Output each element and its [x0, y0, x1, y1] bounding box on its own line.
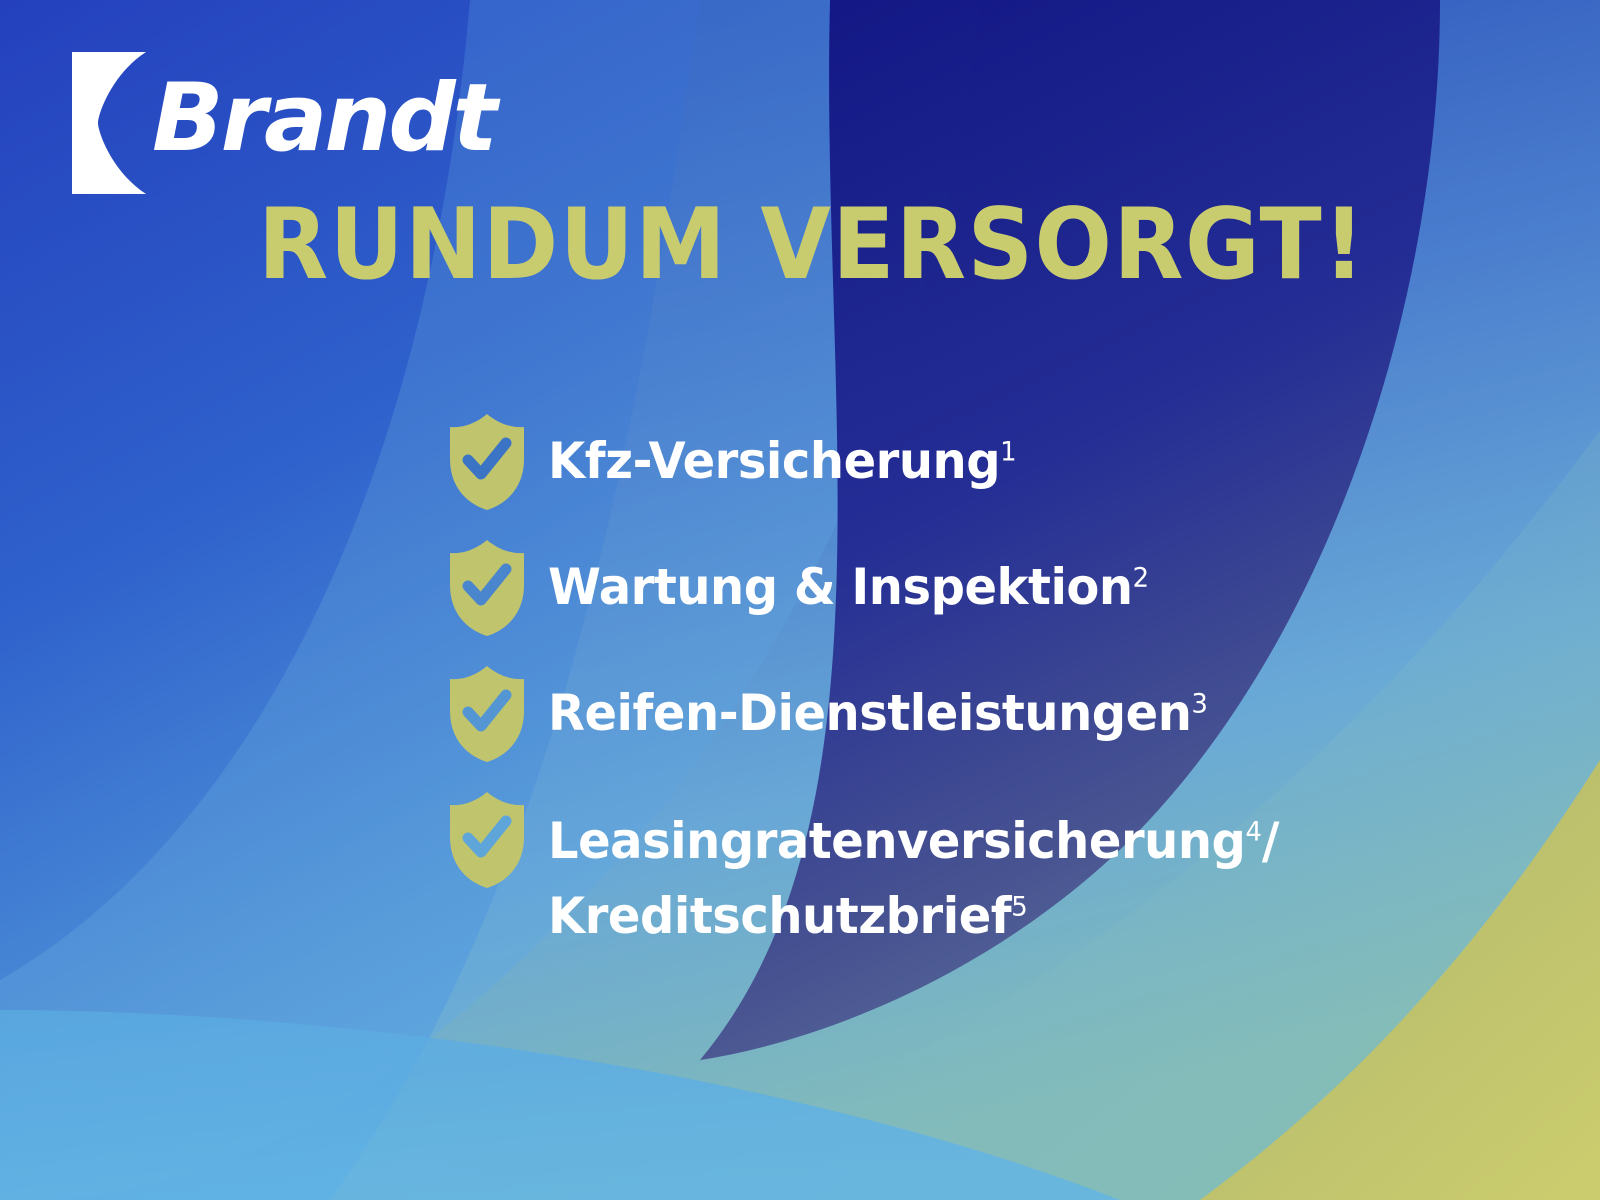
- benefit-footnote-4: 4: [1245, 816, 1262, 847]
- shield-check-icon: [448, 790, 526, 890]
- promo-graphic: Brandt RUNDUM VERSORGT! Kfz-Versicherung…: [0, 0, 1600, 1200]
- brand-logo: Brandt: [72, 52, 495, 194]
- brand-wordmark: Brandt: [152, 72, 495, 166]
- list-item: Kfz-Versicherung1: [448, 412, 1488, 512]
- list-item: Wartung & Inspektion2: [448, 538, 1488, 638]
- page-title: RUNDUM VERSORGT!: [258, 196, 1366, 294]
- benefit-footnote-2: 2: [1133, 562, 1150, 593]
- benefit-label-2: Wartung & Inspektion: [548, 558, 1133, 616]
- list-item: Leasingratenversicherung4/ Kreditschutzb…: [448, 790, 1488, 954]
- benefit-footnote-1: 1: [1000, 436, 1017, 467]
- benefit-label-5: Kreditschutzbrief: [548, 887, 1011, 945]
- shield-check-icon: [448, 412, 526, 512]
- benefit-list: Kfz-Versicherung1 Wartung & Inspektion2: [448, 412, 1488, 980]
- list-item-label: Leasingratenversicherung4/ Kreditschutzb…: [548, 790, 1279, 954]
- list-item-label: Wartung & Inspektion2: [548, 538, 1149, 623]
- benefit-footnote-3: 3: [1191, 688, 1208, 719]
- list-item-label: Kfz-Versicherung1: [548, 412, 1017, 497]
- brandt-bracket-mark-icon: [72, 52, 146, 194]
- shield-check-icon: [448, 538, 526, 638]
- benefit-label-3: Reifen-Dienstleistungen: [548, 684, 1191, 742]
- benefit-label-1: Kfz-Versicherung: [548, 432, 1000, 490]
- list-item: Reifen-Dienstleistungen3: [448, 664, 1488, 764]
- benefit-separator: /: [1262, 812, 1279, 870]
- shield-check-icon: [448, 664, 526, 764]
- benefit-footnote-5: 5: [1011, 891, 1028, 922]
- benefit-label-4: Leasingratenversicherung: [548, 812, 1245, 870]
- list-item-label: Reifen-Dienstleistungen3: [548, 664, 1208, 749]
